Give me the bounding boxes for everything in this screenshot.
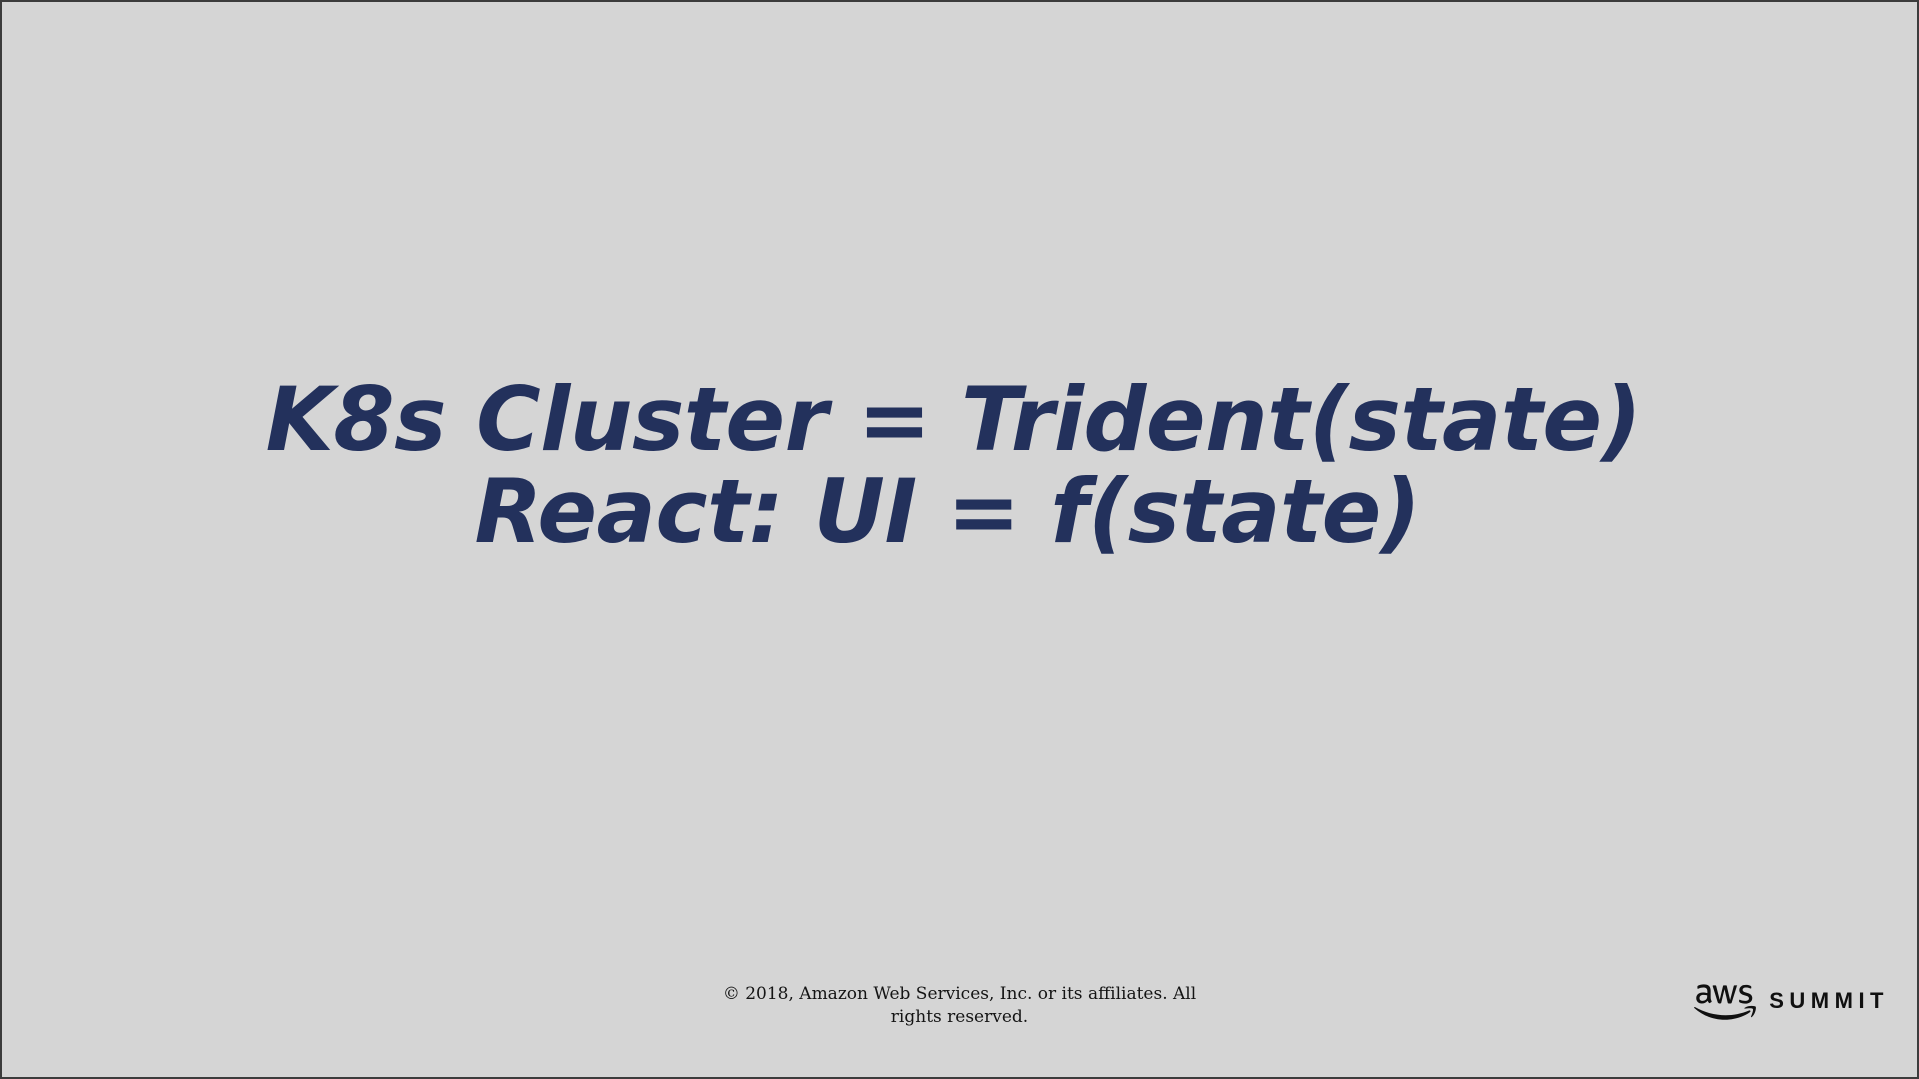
slide-canvas: K8s Cluster = Trident(state) React: UI =… [0, 0, 1919, 1079]
headline-line-2: React: UI = f(state) [110, 466, 1785, 558]
copyright-notice: © 2018, Amazon Web Services, Inc. or its… [710, 983, 1210, 1029]
aws-logo-icon [1694, 981, 1756, 1021]
summit-wordmark: SUMMIT [1769, 990, 1889, 1012]
slide-footer: © 2018, Amazon Web Services, Inc. or its… [2, 959, 1917, 1077]
headline-block: K8s Cluster = Trident(state) React: UI =… [2, 374, 1917, 557]
aws-summit-logo: SUMMIT [1694, 981, 1889, 1021]
headline-line-1: K8s Cluster = Trident(state) [116, 374, 1791, 466]
